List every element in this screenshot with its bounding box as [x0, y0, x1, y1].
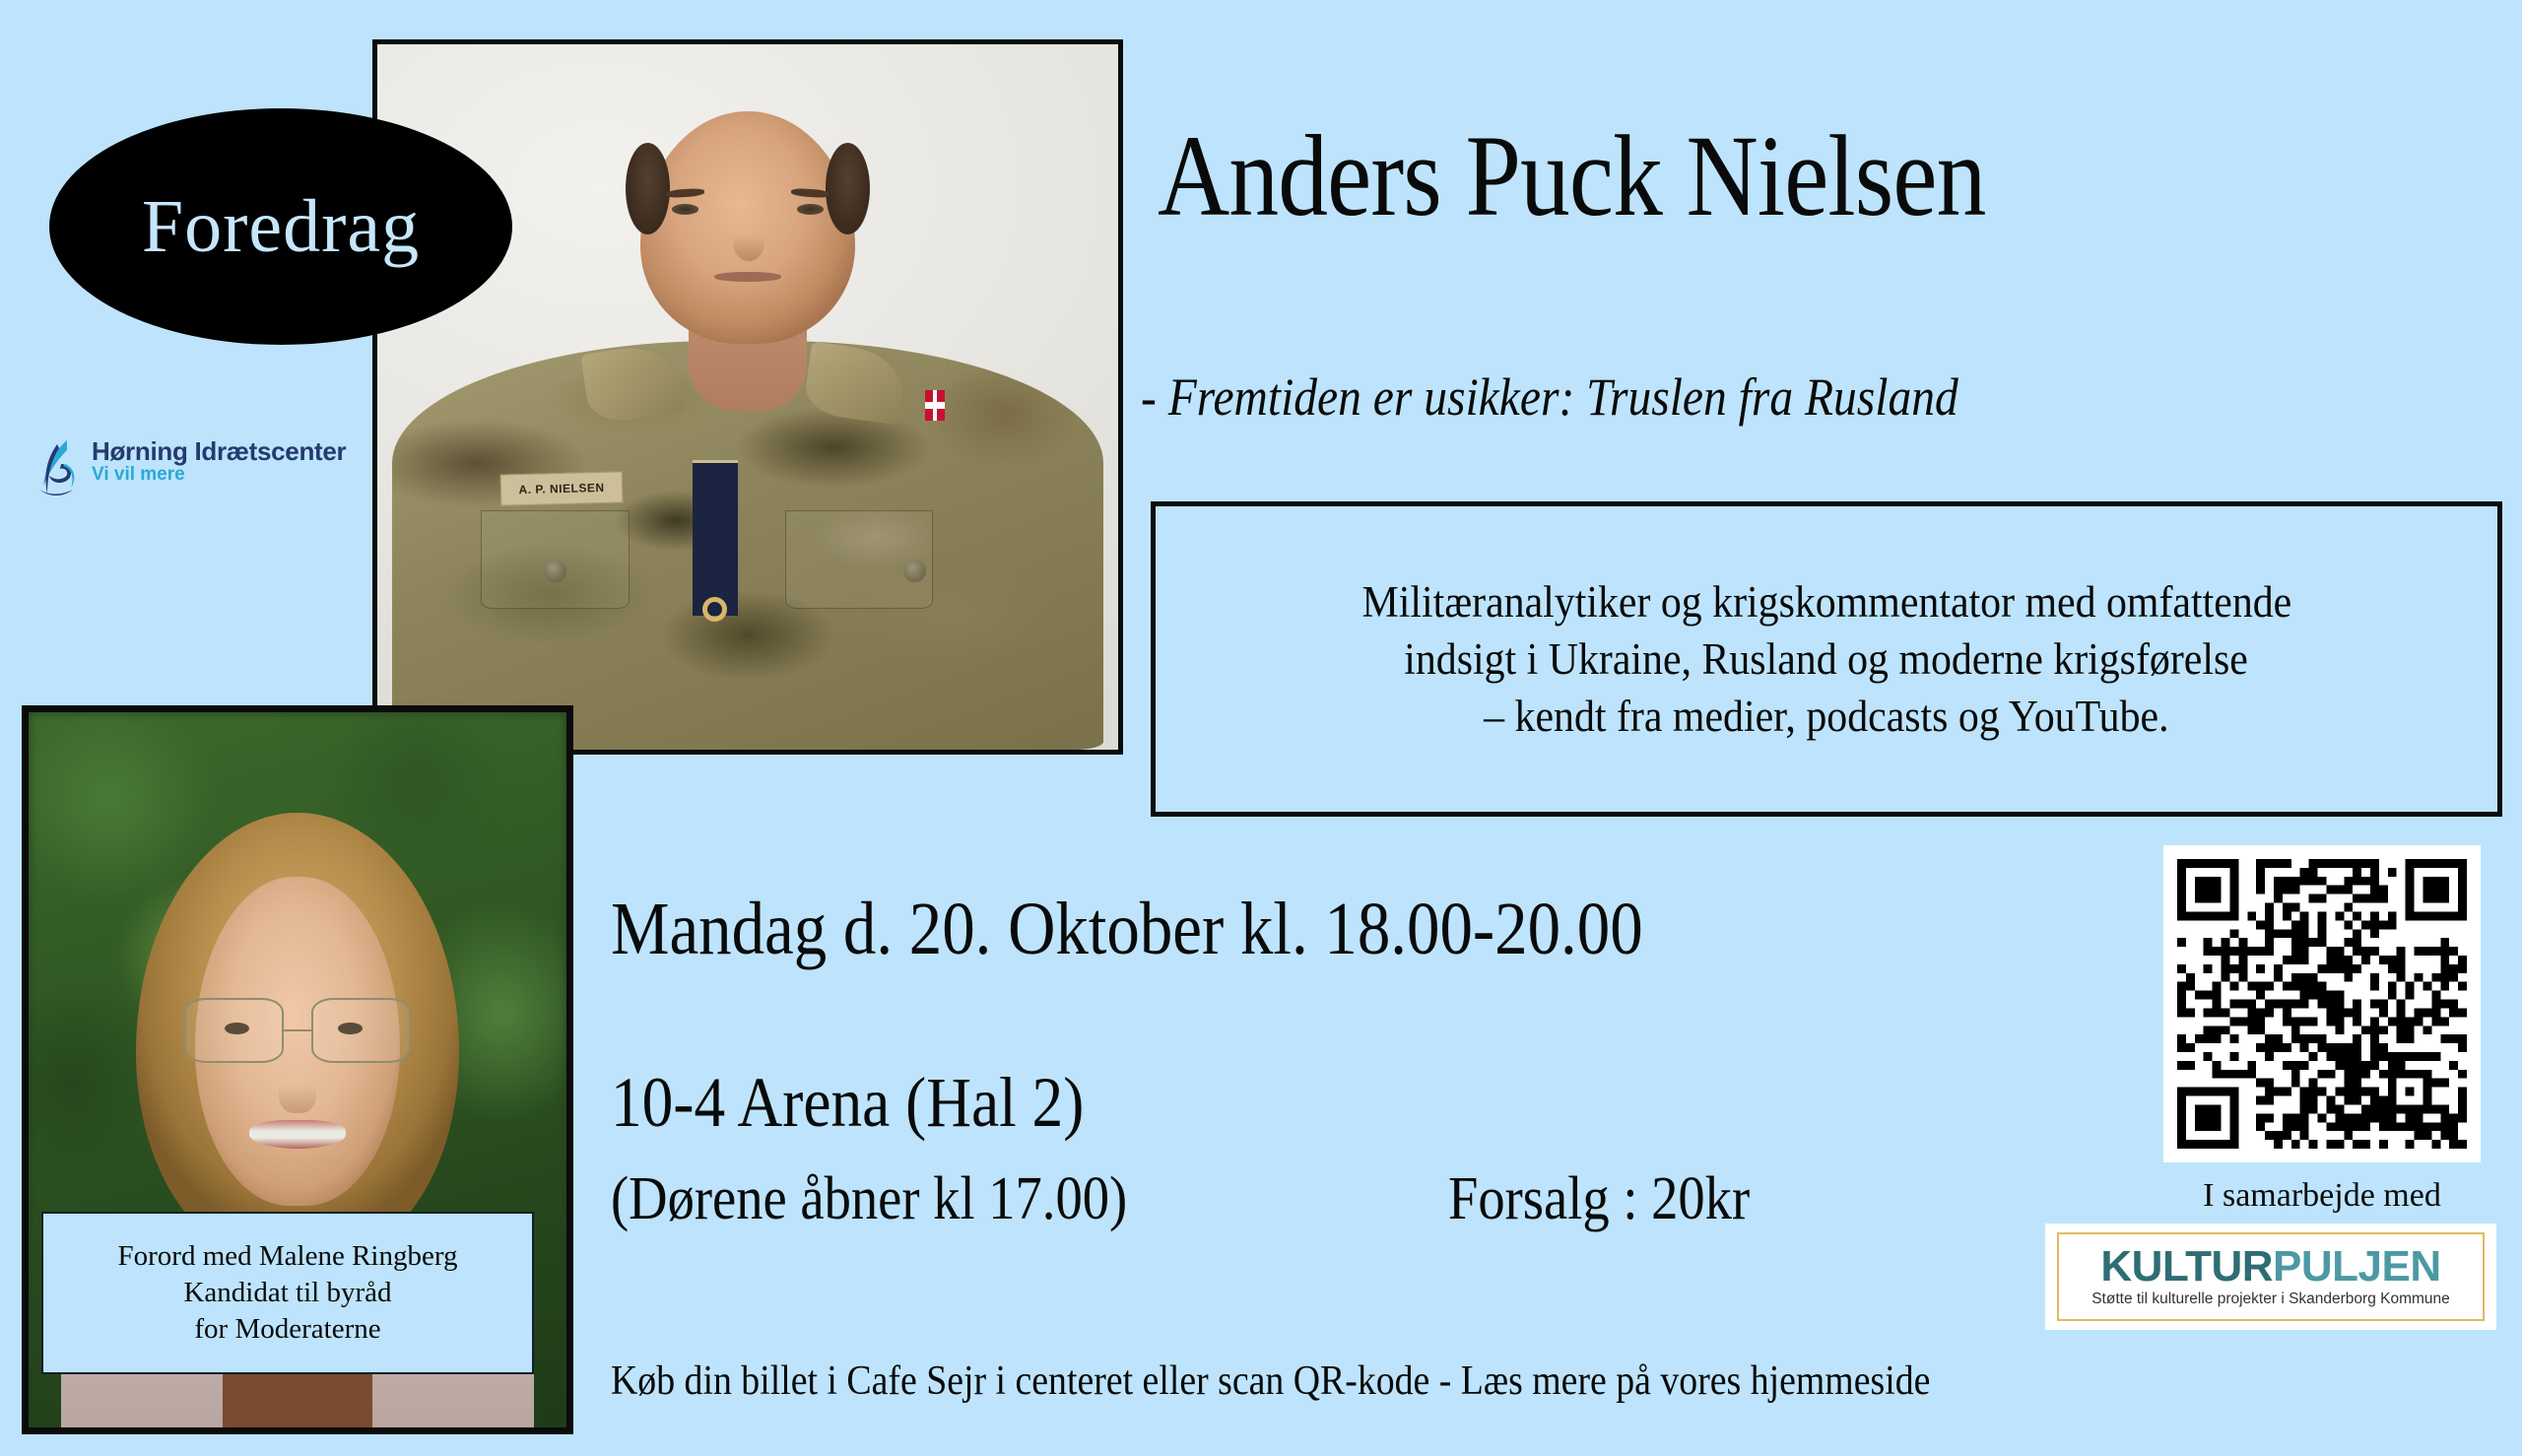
danish-flag-patch [925, 390, 945, 422]
logo-word-kultur: KULTUR [2100, 1242, 2273, 1291]
moderator-caption-box: Forord med Malene Ringberg Kandidat til … [41, 1212, 534, 1374]
event-price: Forsalg : 20kr [1448, 1164, 1750, 1234]
mouth [714, 272, 781, 282]
qr-code-canvas[interactable] [2177, 859, 2467, 1149]
eye-right [797, 204, 824, 215]
ticket-info-footer: Køb din billet i Cafe Sejr i centeret el… [611, 1357, 1930, 1405]
description-line: Militæranalytiker og krigskommentator me… [1361, 576, 2291, 628]
nose [279, 1070, 316, 1113]
eye-left [672, 204, 698, 215]
speaker-photo: A. P. NIELSEN [372, 39, 1123, 755]
hoerning-idraetscenter-logo: Hørning Idrætscenter Vi vil mere [37, 438, 346, 499]
uniform-button-right [903, 560, 926, 582]
event-venue: 10-4 Arena (Hal 2) [611, 1062, 1084, 1144]
logo-tagline: Vi vil mere [92, 465, 346, 485]
foredrag-badge-label: Foredrag [142, 184, 420, 270]
logo-word-puljen: PULJEN [2273, 1242, 2441, 1291]
logo-wordmark: KULTURPULJEN [2100, 1245, 2440, 1289]
description-line: indsigt i Ukraine, Rusland og moderne kr… [1405, 633, 2249, 685]
lens-left [184, 998, 284, 1062]
lens-right [311, 998, 411, 1062]
hair-left [626, 143, 670, 234]
navy-rank-insignia [693, 460, 739, 616]
logo-subtitle: Støtte til kulturelle projekter i Skande… [2091, 1291, 2450, 1308]
smile [249, 1120, 346, 1149]
event-poster: A. P. NIELSEN Foredrag Hørning Idrætscen… [0, 0, 2522, 1456]
event-date-time: Mandag d. 20. Oktober kl. 18.00-20.00 [611, 887, 1643, 972]
logo-name: Hørning Idrætscenter [92, 438, 346, 465]
moderator-caption-line: Kandidat til byråd [183, 1275, 391, 1311]
speaker-description-box: Militæranalytiker og krigskommentator me… [1151, 501, 2502, 817]
swoosh-icon [37, 438, 83, 499]
eyeglasses-icon [184, 998, 410, 1062]
moderator-caption-line: Forord med Malene Ringberg [118, 1238, 458, 1275]
logo-text-group: Hørning Idrætscenter Vi vil mere [92, 438, 346, 485]
hair-right [826, 143, 870, 234]
logo-frame: KULTURPULJEN Støtte til kulturelle proje… [2057, 1232, 2485, 1321]
nose [733, 225, 764, 261]
partner-label: I samarbejde med [2163, 1177, 2481, 1215]
foredrag-badge: Foredrag [49, 108, 512, 345]
qr-code-icon[interactable] [2163, 845, 2481, 1162]
kulturpuljen-logo: KULTURPULJEN Støtte til kulturelle proje… [2045, 1224, 2496, 1330]
glasses-bridge [284, 1029, 311, 1032]
uniform-name-tape: A. P. NIELSEN [499, 472, 623, 506]
description-line: – kendt fra medier, podcasts og YouTube. [1484, 691, 2168, 742]
page-title: Anders Puck Nielsen [1158, 118, 2310, 234]
page-subtitle: - Fremtiden er usikker: Truslen fra Rusl… [1141, 366, 2181, 428]
moderator-caption-line: for Moderaterne [194, 1311, 380, 1348]
event-doors-open: (Dørene åbner kl 17.00) [611, 1164, 1127, 1234]
